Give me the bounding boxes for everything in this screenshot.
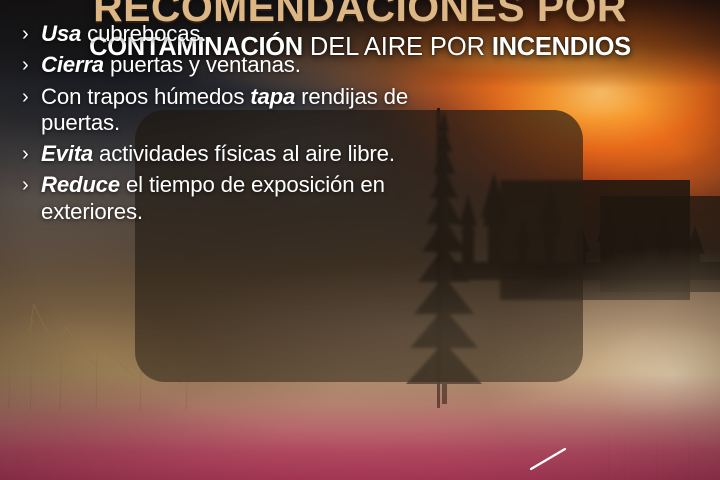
tip-keyword: Usa: [41, 21, 81, 46]
tip-text: actividades físicas al aire libre.: [93, 141, 395, 166]
list-item: ›Usa cubrebocas.: [22, 21, 430, 47]
list-item: ›Cierra puertas y ventanas.: [22, 52, 430, 78]
tip-keyword: Reduce: [41, 172, 120, 197]
tip-keyword: Cierra: [41, 52, 104, 77]
tip-keyword: tapa: [250, 84, 295, 109]
tip-text: cubrebocas.: [81, 21, 206, 46]
tip-lead: Con trapos húmedos: [41, 84, 250, 109]
list-item: ›Reduce el tiempo de exposición en exter…: [22, 172, 430, 225]
diagonal-accent-stroke-icon: [529, 447, 569, 471]
subtitle-part-incendios: INCENDIOS: [492, 33, 631, 61]
list-item: ›Evita actividades físicas al aire libre…: [22, 141, 430, 167]
chevron-right-icon: ›: [22, 52, 29, 78]
chevron-right-icon: ›: [22, 172, 29, 198]
list-item: ›Con trapos húmedos tapa rendijas de pue…: [22, 84, 430, 137]
chevron-right-icon: ›: [22, 141, 29, 167]
chevron-right-icon: ›: [22, 21, 29, 47]
tip-keyword: Evita: [41, 141, 93, 166]
tip-text: puertas y ventanas.: [104, 52, 301, 77]
poster-canvas: RECOMENDACIONES POR CONTAMINACIÓN DEL AI…: [0, 0, 720, 480]
recommendations-list: ›Usa cubrebocas. ›Cierra puertas y venta…: [0, 0, 448, 272]
chevron-right-icon: ›: [22, 84, 29, 110]
